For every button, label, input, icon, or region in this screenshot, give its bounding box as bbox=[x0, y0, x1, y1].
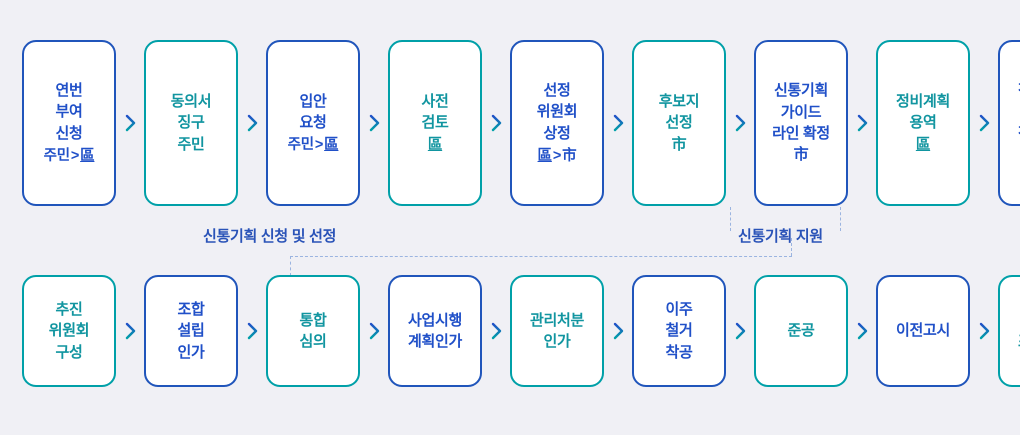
process-node-12-label: 통합 심의 bbox=[296, 310, 329, 353]
chevron-right-icon bbox=[726, 114, 754, 132]
process-node-11[interactable]: 조합 설립 인가 bbox=[144, 275, 238, 387]
process-node-13-label: 사업시행 계획인가 bbox=[405, 310, 465, 353]
process-node-11-label: 조합 설립 인가 bbox=[174, 299, 207, 363]
process-node-6-label: 후보지 선정 市 bbox=[656, 91, 703, 155]
process-row-upper: 연번 부여 신청 주민>區 동의서 징구 주민 입안 요청 주민>區 사전 검토… bbox=[0, 40, 1020, 206]
chevron-right-icon bbox=[238, 114, 266, 132]
process-node-10-label: 추진 위원회 구성 bbox=[46, 299, 93, 363]
chevron-right-icon bbox=[360, 114, 388, 132]
process-node-5[interactable]: 선정 위원회 상정 區>市 bbox=[510, 40, 604, 206]
process-node-7-label: 신통기획 가이드 라인 확정 市 bbox=[769, 80, 833, 165]
process-node-14[interactable]: 관리처분 인가 bbox=[510, 275, 604, 387]
process-node-4[interactable]: 사전 검토 區 bbox=[388, 40, 482, 206]
process-node-7[interactable]: 신통기획 가이드 라인 확정 市 bbox=[754, 40, 848, 206]
dashed-stub-node-7 bbox=[730, 207, 731, 231]
dashed-stub-node-8 bbox=[840, 207, 841, 231]
process-node-13[interactable]: 사업시행 계획인가 bbox=[388, 275, 482, 387]
chevron-right-icon bbox=[970, 322, 998, 340]
dashed-connector-right-rise bbox=[791, 238, 792, 256]
chevron-right-icon bbox=[970, 114, 998, 132]
process-node-12[interactable]: 통합 심의 bbox=[266, 275, 360, 387]
process-node-16-label: 준공 bbox=[784, 320, 817, 341]
process-node-15[interactable]: 이주 철거 착공 bbox=[632, 275, 726, 387]
process-row-lower: 추진 위원회 구성 조합 설립 인가 통합 심의 사업시행 계획인가 관리처분 … bbox=[0, 275, 1020, 387]
chevron-right-icon bbox=[482, 322, 510, 340]
process-node-18-label: 청산 및 조합해산 bbox=[1015, 310, 1020, 353]
chevron-right-icon bbox=[848, 114, 876, 132]
chevron-right-icon bbox=[604, 322, 632, 340]
chevron-right-icon bbox=[238, 322, 266, 340]
chevron-right-icon bbox=[116, 322, 144, 340]
process-node-2-label: 동의서 징구 주민 bbox=[168, 91, 215, 155]
process-node-18[interactable]: 청산 및 조합해산 bbox=[998, 275, 1020, 387]
process-node-1-label: 연번 부여 신청 bbox=[52, 80, 85, 144]
process-node-15-label: 이주 철거 착공 bbox=[662, 299, 695, 363]
process-node-10[interactable]: 추진 위원회 구성 bbox=[22, 275, 116, 387]
process-node-4-label: 사전 검토 bbox=[418, 91, 451, 134]
process-node-14-label: 관리처분 인가 bbox=[527, 310, 587, 353]
chevron-right-icon bbox=[726, 322, 754, 340]
process-node-3-label: 입안 요청 bbox=[296, 91, 329, 134]
process-node-3-actor: 주민>區 bbox=[288, 135, 339, 155]
chevron-right-icon bbox=[360, 322, 388, 340]
process-node-9[interactable]: 정비계획 결정 정비구역 지정 bbox=[998, 40, 1020, 206]
dashed-connector-horizontal bbox=[290, 256, 792, 257]
chevron-right-icon bbox=[116, 114, 144, 132]
process-flow-diagram: 연번 부여 신청 주민>區 동의서 징구 주민 입안 요청 주민>區 사전 검토… bbox=[0, 0, 1020, 435]
chevron-right-icon bbox=[604, 114, 632, 132]
chevron-right-icon bbox=[848, 322, 876, 340]
process-node-1[interactable]: 연번 부여 신청 주민>區 bbox=[22, 40, 116, 206]
process-node-3[interactable]: 입안 요청 주민>區 bbox=[266, 40, 360, 206]
process-node-17-label: 이전고시 bbox=[893, 320, 953, 341]
process-node-6[interactable]: 후보지 선정 市 bbox=[632, 40, 726, 206]
process-node-5-label: 선정 위원회 상정 bbox=[534, 80, 581, 144]
process-node-8-label: 정비계획 용역 bbox=[893, 91, 953, 134]
process-node-5-actor: 區>市 bbox=[538, 146, 577, 166]
process-node-2[interactable]: 동의서 징구 주민 bbox=[144, 40, 238, 206]
dashed-connector-left-drop bbox=[290, 256, 291, 276]
process-node-17[interactable]: 이전고시 bbox=[876, 275, 970, 387]
process-node-8[interactable]: 정비계획 용역 區 bbox=[876, 40, 970, 206]
group-label-application-selection: 신통기획 신청 및 선정 bbox=[203, 225, 336, 246]
process-node-8-actor: 區 bbox=[916, 135, 930, 155]
process-node-16[interactable]: 준공 bbox=[754, 275, 848, 387]
group-label-support: 신통기획 지원 bbox=[738, 225, 823, 246]
process-node-1-actor: 주민>區 bbox=[44, 146, 95, 166]
process-node-9-label: 정비계획 결정 정비구역 지정 bbox=[1015, 80, 1020, 165]
chevron-right-icon bbox=[482, 114, 510, 132]
process-node-4-actor: 區 bbox=[428, 135, 442, 155]
